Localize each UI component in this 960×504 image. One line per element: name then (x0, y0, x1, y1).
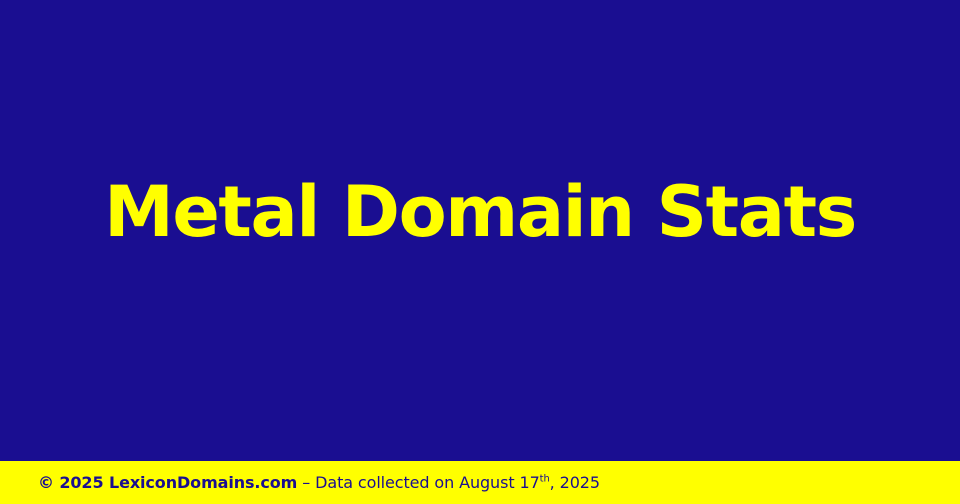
footer-copyright: © 2025 LexiconDomains.com (38, 473, 297, 492)
page-title: Metal Domain Stats (104, 176, 856, 250)
footer-year: , 2025 (550, 473, 600, 492)
title-area: Metal Domain Stats (0, 0, 960, 461)
footer-ordinal-suffix: th (540, 473, 550, 484)
footer-collected-text: – Data collected on August 17 (297, 473, 539, 492)
footer-credit-line: © 2025 LexiconDomains.com – Data collect… (0, 475, 600, 491)
slide-canvas: Metal Domain Stats © 2025 LexiconDomains… (0, 0, 960, 504)
footer-bar: © 2025 LexiconDomains.com – Data collect… (0, 461, 960, 504)
